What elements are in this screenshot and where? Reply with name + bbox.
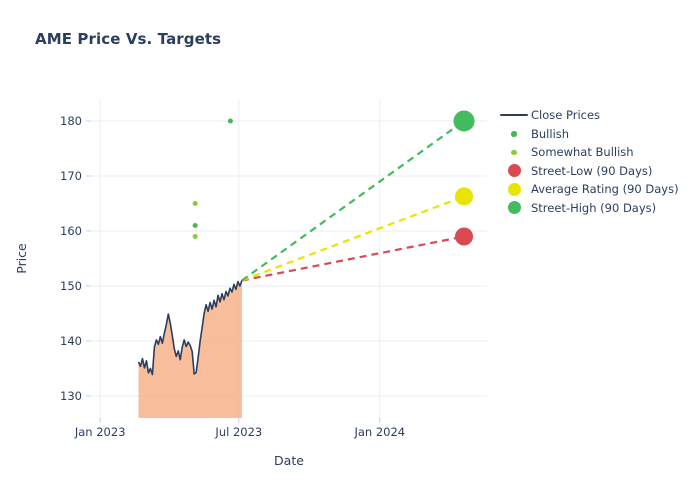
legend-marker-icon xyxy=(497,106,531,124)
y-axis-ticks: 130140150160170180 xyxy=(60,114,91,403)
svg-text:140: 140 xyxy=(60,334,82,348)
legend-marker-icon xyxy=(497,143,531,161)
legend-marker-icon xyxy=(497,125,531,143)
svg-text:170: 170 xyxy=(60,169,82,183)
legend-item-label: Somewhat Bullish xyxy=(531,143,634,162)
legend-swatch-shape xyxy=(500,114,528,116)
legend-item-5[interactable]: Street-High (90 Days) xyxy=(497,199,697,218)
legend-swatch-shape xyxy=(508,164,521,177)
legend-item-label: Street-Low (90 Days) xyxy=(531,162,652,181)
legend-item-3[interactable]: Street-Low (90 Days) xyxy=(497,162,697,181)
legend-item-0[interactable]: Close Prices xyxy=(497,106,697,125)
svg-text:Jan 2023: Jan 2023 xyxy=(74,425,126,439)
y-axis-label: Price xyxy=(14,243,29,274)
x-axis-ticks: Jan 2023Jul 2023Jan 2024 xyxy=(74,418,405,439)
svg-text:Jan 2024: Jan 2024 xyxy=(353,425,405,439)
chart-legend: Close PricesBullishSomewhat BullishStree… xyxy=(497,106,697,217)
svg-text:150: 150 xyxy=(60,279,82,293)
legend-swatch-shape xyxy=(508,201,521,214)
x-axis-label: Date xyxy=(274,453,304,468)
legend-item-4[interactable]: Average Rating (90 Days) xyxy=(497,180,697,199)
svg-text:160: 160 xyxy=(60,224,82,238)
chart-container: AME Price Vs. Targets 130140150160170180… xyxy=(0,0,700,500)
legend-item-label: Close Prices xyxy=(531,106,600,125)
legend-item-label: Average Rating (90 Days) xyxy=(531,180,679,199)
plot-area: 130140150160170180 Jan 2023Jul 2023Jan 2… xyxy=(0,0,700,500)
legend-swatch-shape xyxy=(511,150,517,156)
legend-item-1[interactable]: Bullish xyxy=(497,125,697,144)
legend-item-label: Bullish xyxy=(531,125,569,144)
svg-text:180: 180 xyxy=(60,114,82,128)
legend-marker-icon xyxy=(497,199,531,217)
svg-text:Jul 2023: Jul 2023 xyxy=(214,425,262,439)
legend-item-label: Street-High (90 Days) xyxy=(531,199,656,218)
target-markers xyxy=(454,111,474,245)
legend-swatch-shape xyxy=(511,131,517,137)
projection-lines xyxy=(242,121,464,281)
legend-marker-icon xyxy=(497,180,531,198)
legend-marker-icon xyxy=(497,162,531,180)
rating-scatter-points xyxy=(193,119,233,240)
legend-item-2[interactable]: Somewhat Bullish xyxy=(497,143,697,162)
svg-text:130: 130 xyxy=(60,389,82,403)
legend-swatch-shape xyxy=(508,183,521,196)
